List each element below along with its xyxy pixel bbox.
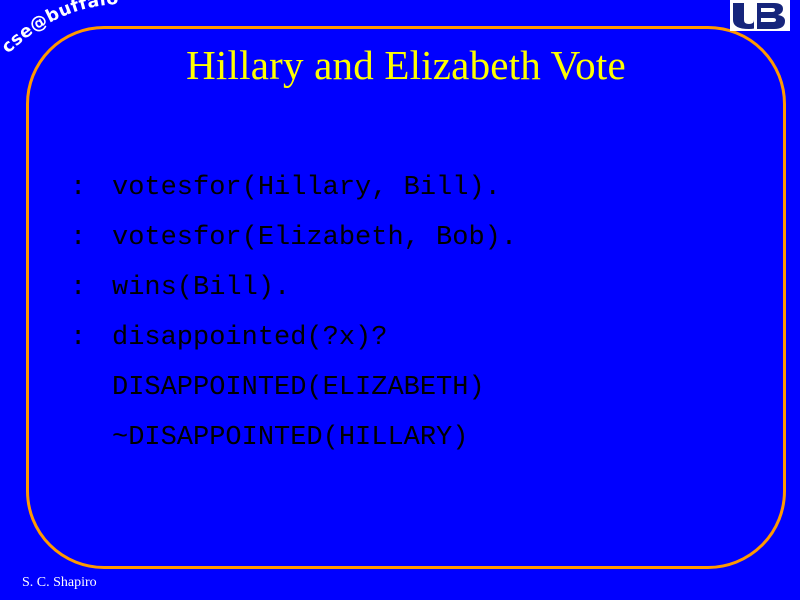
trace-line: : votesfor(Hillary, Bill). bbox=[70, 163, 770, 213]
trace-prompt: : bbox=[70, 263, 112, 313]
trace-line: : disappointed(?x)? bbox=[70, 313, 770, 363]
slide-title: Hillary and Elizabeth Vote bbox=[26, 40, 786, 90]
slide-canvas: cse@buffalo Hillary and Elizabeth Vote :… bbox=[0, 0, 800, 600]
trace-line: : wins(Bill). bbox=[70, 263, 770, 313]
slide-footer-author: S. C. Shapiro bbox=[22, 574, 97, 592]
trace-result-text: DISAPPOINTED(ELIZABETH) bbox=[112, 363, 770, 413]
trace-result-line: DISAPPOINTED(ELIZABETH) bbox=[70, 363, 770, 413]
trace-text: wins(Bill). bbox=[112, 263, 770, 313]
trace-prompt: : bbox=[70, 163, 112, 213]
trace-text: disappointed(?x)? bbox=[112, 313, 770, 363]
trace-result-text: ~DISAPPOINTED(HILLARY) bbox=[112, 413, 770, 463]
slide-body: : votesfor(Hillary, Bill). : votesfor(El… bbox=[70, 163, 770, 463]
trace-result-line: ~DISAPPOINTED(HILLARY) bbox=[70, 413, 770, 463]
trace-prompt: : bbox=[70, 313, 112, 363]
trace-prompt: : bbox=[70, 213, 112, 263]
ub-logo bbox=[730, 0, 790, 31]
trace-line: : votesfor(Elizabeth, Bob). bbox=[70, 213, 770, 263]
trace-text: votesfor(Elizabeth, Bob). bbox=[112, 213, 770, 263]
trace-text: votesfor(Hillary, Bill). bbox=[112, 163, 770, 213]
